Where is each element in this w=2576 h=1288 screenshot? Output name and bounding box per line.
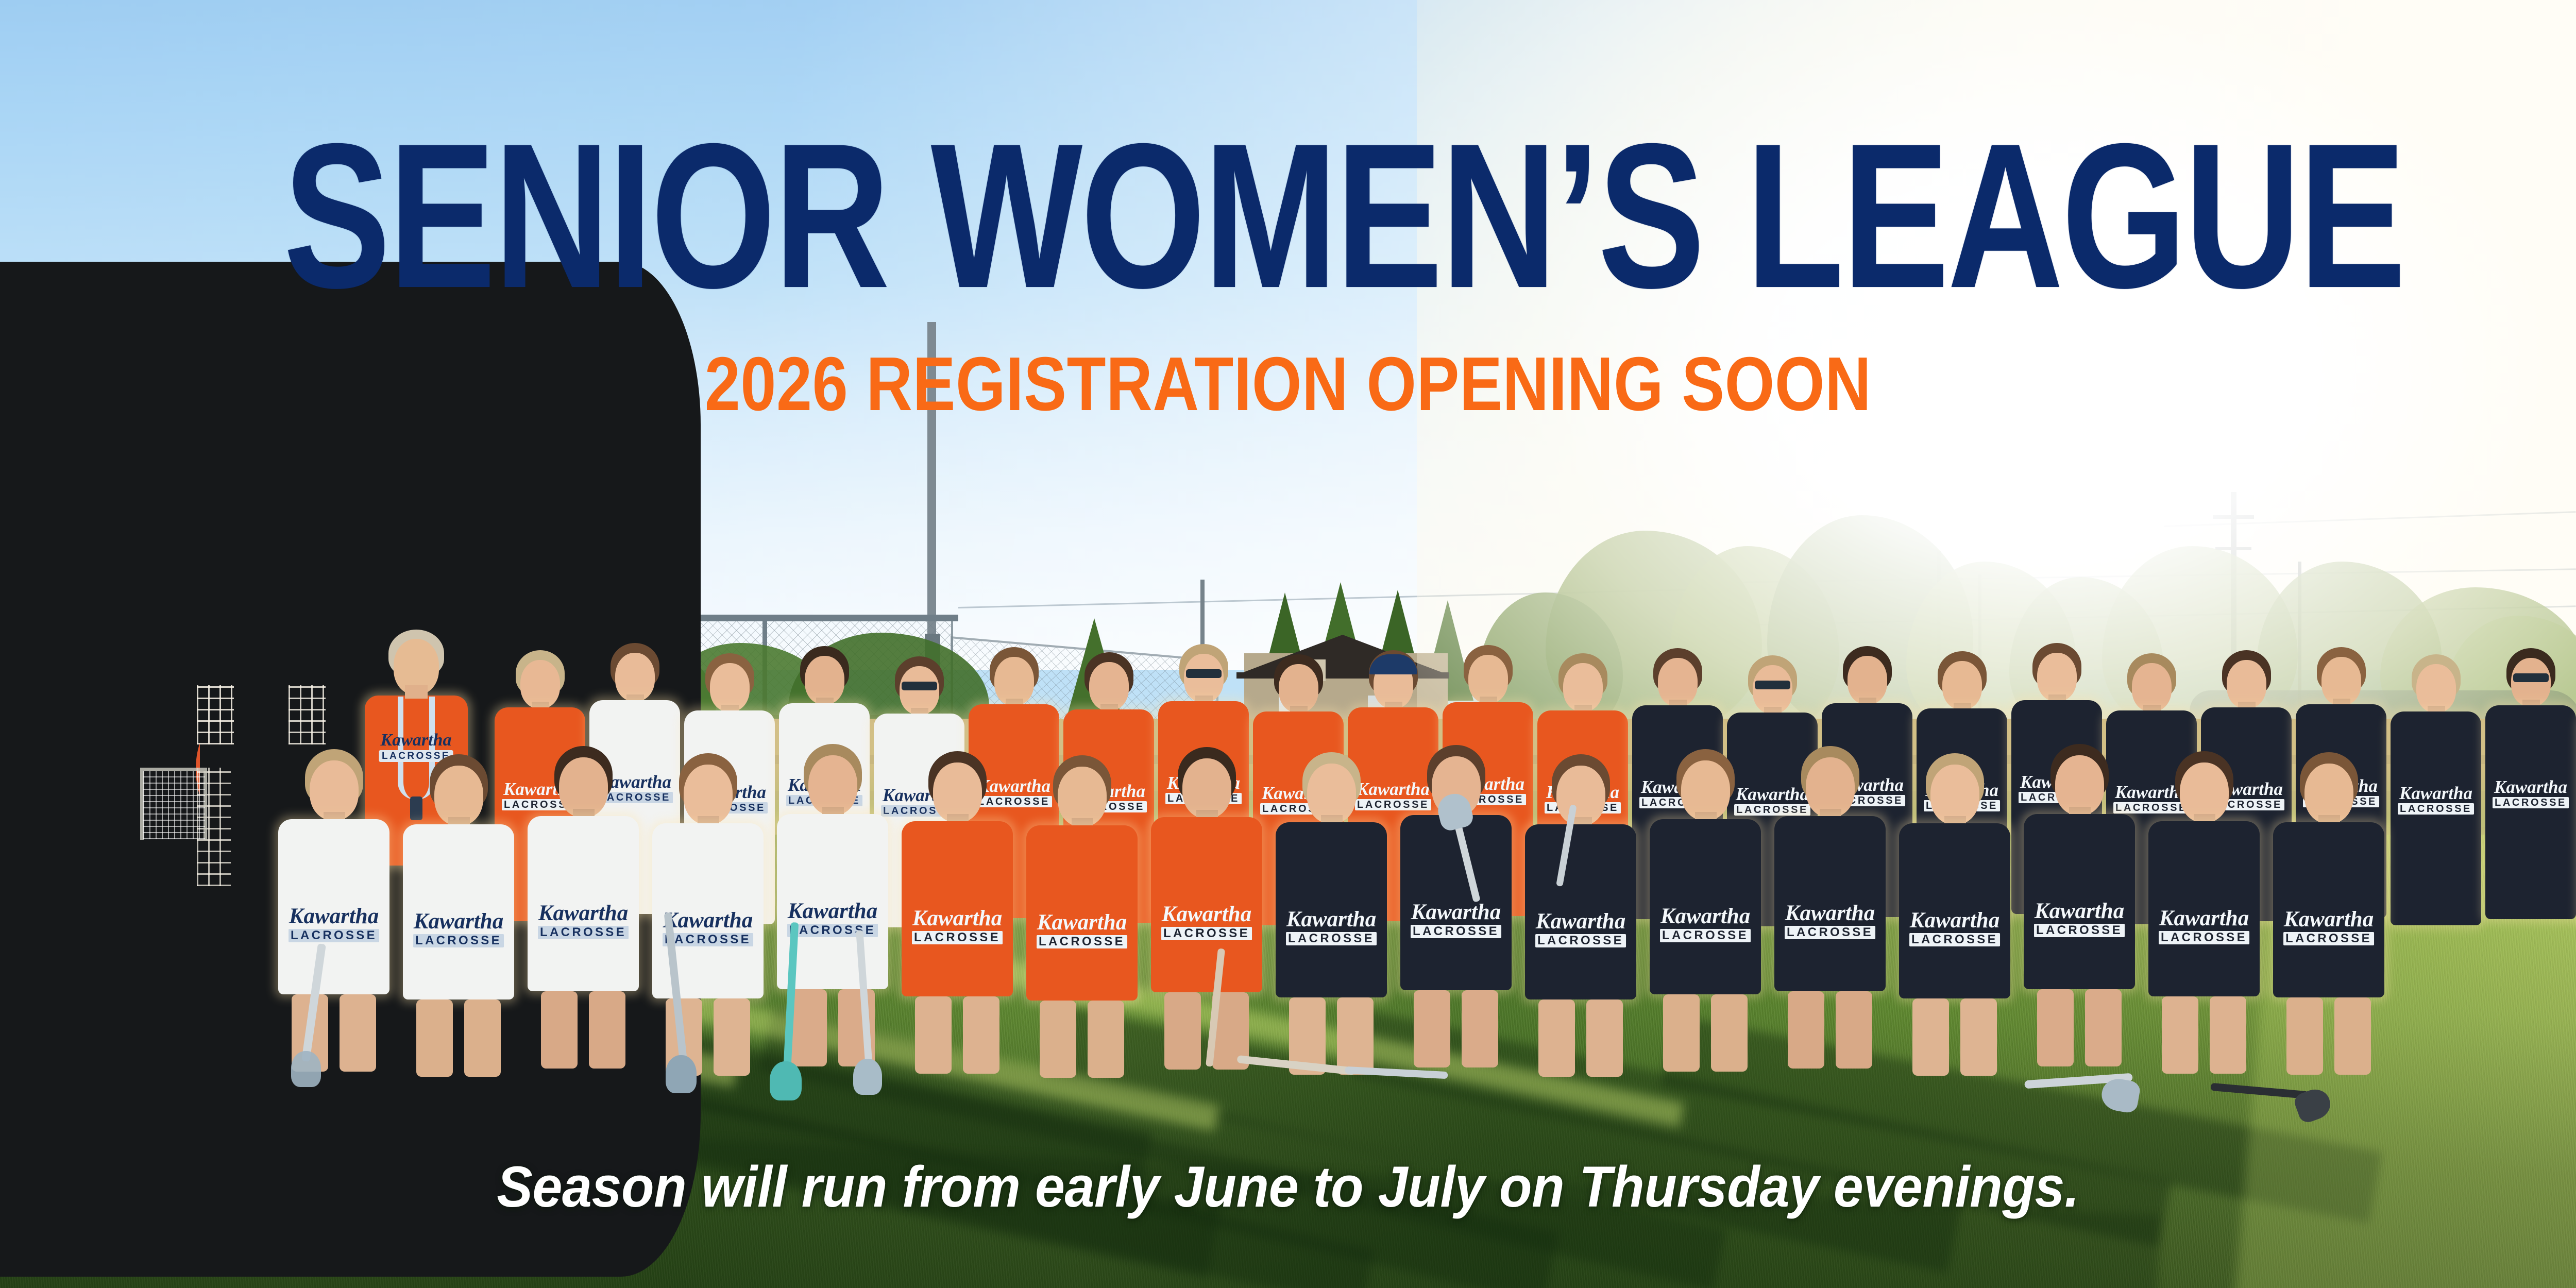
leg (2286, 997, 2323, 1075)
head (2132, 663, 2172, 711)
jersey (652, 823, 764, 998)
person: KawarthaLACROSSE (403, 757, 514, 1077)
jersey (1525, 824, 1636, 999)
head (559, 757, 608, 817)
jersey (2148, 821, 2260, 996)
leg (340, 994, 376, 1072)
head (933, 762, 982, 822)
head (615, 653, 655, 701)
jersey (2273, 822, 2384, 997)
head (434, 766, 483, 825)
leg (1337, 997, 1374, 1075)
leg (1663, 994, 1700, 1072)
person: KawarthaLACROSSE (902, 754, 1013, 1074)
head (310, 760, 359, 820)
head (2304, 764, 2353, 823)
head (520, 660, 560, 708)
leg (1586, 999, 1623, 1077)
person: KawarthaLACROSSE (2024, 747, 2135, 1066)
head (805, 656, 844, 704)
head (2055, 755, 2104, 815)
person: KawarthaLACROSSE (2273, 755, 2384, 1075)
head (1753, 665, 1792, 714)
jersey (2485, 705, 2576, 919)
jersey (403, 824, 514, 999)
leg (2037, 989, 2074, 1066)
leg (589, 991, 625, 1069)
leg (1088, 1001, 1124, 1078)
season-caption: Season will run from early June to July … (90, 1158, 2486, 1216)
leg (1960, 998, 1997, 1076)
jersey (1650, 819, 1761, 994)
leg (1711, 994, 1748, 1072)
jersey (1400, 815, 1512, 990)
sunglasses-icon (902, 682, 937, 690)
leg (1414, 990, 1450, 1067)
head (1563, 663, 1603, 711)
head (1681, 760, 1730, 820)
person: KawarthaLACROSSE (1899, 756, 2010, 1076)
person: KawarthaLACROSSE (2391, 657, 2481, 925)
head (2416, 664, 2456, 713)
head (1942, 661, 1982, 709)
head (994, 657, 1034, 705)
sunglasses-icon (2513, 673, 2549, 682)
jersey (278, 819, 389, 994)
head (2511, 658, 2551, 706)
leg (2162, 996, 2198, 1074)
head (2227, 660, 2266, 708)
leg (1538, 999, 1575, 1077)
person: KawarthaLACROSSE (1276, 755, 1387, 1075)
head (808, 755, 857, 815)
person: KawarthaLACROSSE (278, 752, 389, 1072)
leg (1462, 990, 1498, 1067)
leg (790, 989, 827, 1066)
leg (963, 996, 999, 1074)
head (1806, 757, 1855, 817)
leg (2334, 997, 2371, 1075)
person: KawarthaLACROSSE (1774, 749, 1886, 1069)
person: KawarthaLACROSSE (1151, 750, 1262, 1070)
head (1848, 656, 1887, 704)
page-title: SENIOR WOMEN’S LEAGUE (283, 131, 2293, 300)
leg (416, 999, 453, 1077)
leg (1788, 991, 1824, 1069)
sunglasses-icon (1755, 681, 1790, 689)
head (1182, 758, 1231, 818)
head (1468, 655, 1508, 703)
leg (2085, 989, 2122, 1066)
leg (915, 996, 952, 1074)
jersey (1276, 822, 1387, 997)
leg (1836, 991, 1872, 1069)
jersey (2391, 711, 2481, 925)
promotional-poster: RHINO lacrosse Kawartha LACROSSE Kawarth… (0, 0, 2576, 1288)
leg (714, 998, 750, 1076)
head (900, 666, 939, 715)
person: KawarthaLACROSSE (2148, 754, 2260, 1074)
person: KawarthaLACROSSE (1525, 757, 1636, 1077)
head (1184, 654, 1224, 702)
head (2037, 653, 2077, 701)
jersey (1151, 817, 1262, 992)
head (1089, 662, 1129, 710)
leg (464, 999, 501, 1077)
head (2321, 657, 2361, 705)
head (1658, 658, 1698, 706)
head (1307, 764, 1356, 823)
page-subtitle: 2026 REGISTRATION OPENING SOON (206, 346, 2370, 422)
head (1556, 766, 1605, 825)
person: KawarthaLACROSSE (528, 749, 639, 1069)
sunglasses-icon (1186, 669, 1222, 678)
head (2180, 762, 2229, 822)
person: KawarthaLACROSSE (1650, 752, 1761, 1072)
jersey (1774, 816, 1886, 991)
head (710, 663, 750, 711)
head (1058, 767, 1107, 826)
head (684, 765, 733, 824)
leg (1040, 1001, 1076, 1078)
jersey (1026, 825, 1138, 1001)
jersey (2024, 814, 2135, 989)
person: KawarthaLACROSSE (1026, 758, 1138, 1078)
jersey (1899, 823, 2010, 998)
head (1930, 765, 1979, 824)
jersey (528, 816, 639, 991)
leg (541, 991, 578, 1069)
leg (1912, 998, 1949, 1076)
person: KawarthaLACROSSE (2485, 651, 2576, 919)
leg (1164, 992, 1201, 1070)
jersey (902, 821, 1013, 996)
leg (2210, 996, 2246, 1074)
head (1279, 664, 1318, 713)
